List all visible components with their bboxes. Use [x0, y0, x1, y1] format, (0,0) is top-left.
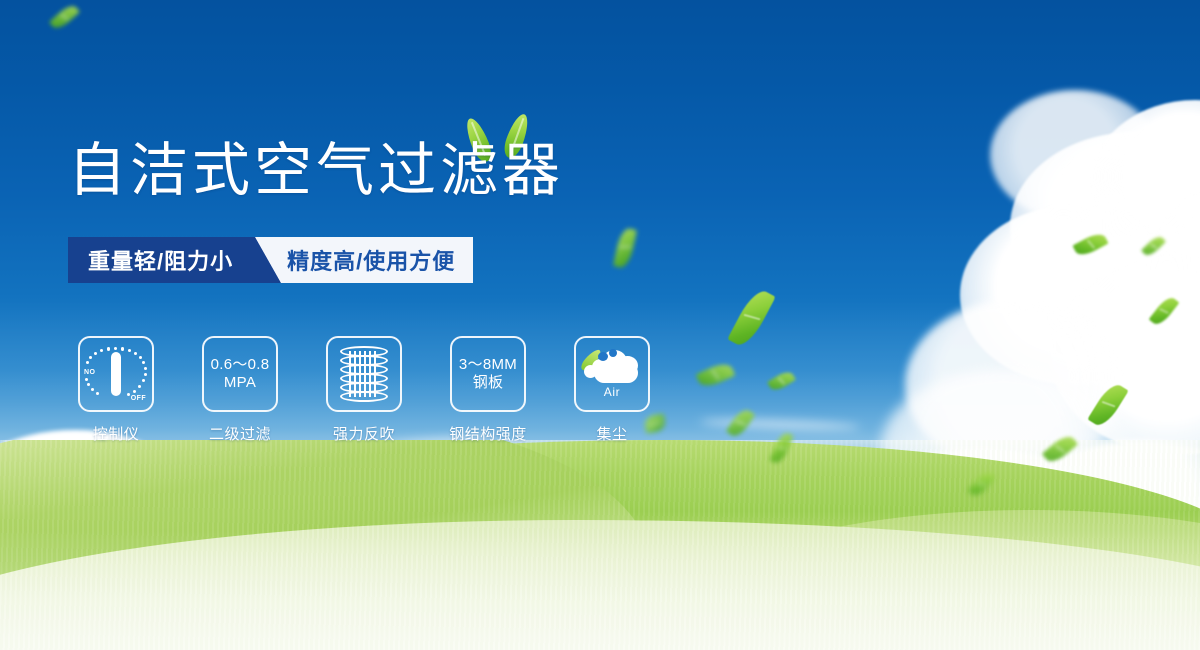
gauge-icon: NO OFF [85, 345, 147, 403]
pressure-value-line2: MPA [224, 374, 256, 392]
subtitle-bar: 重量轻/阻力小 精度高/使用方便 [68, 237, 473, 283]
gauge-off-label: OFF [131, 395, 146, 402]
subtitle-right: 精度高/使用方便 [281, 237, 473, 283]
gauge-needle-icon [111, 352, 121, 396]
feature-icon-box: NO OFF [78, 336, 154, 412]
feature-label: 强力反吹 [333, 423, 395, 444]
gauge-on-label: NO [84, 369, 95, 376]
steel-value-line1: 3～8MM [459, 356, 517, 374]
pressure-value-line1: 0.6～0.8 [211, 356, 270, 374]
feature-item-controller[interactable]: NO OFF 控制仪 [68, 336, 164, 444]
subtitle-left: 重量轻/阻力小 [68, 237, 255, 283]
feature-item-backblow[interactable]: 强力反吹 [316, 336, 412, 444]
feature-icon-box: 3～8MM 钢板 [450, 336, 526, 412]
feature-label: 控制仪 [93, 423, 140, 444]
feature-list: NO OFF 控制仪 0.6～0.8 MPA 二级过滤 [68, 336, 660, 444]
feature-icon-box [326, 336, 402, 412]
feature-icon-box: Air [574, 336, 650, 412]
banner-content: 自洁式空气过滤器 重量轻/阻力小 精度高/使用方便 [0, 0, 1200, 650]
page-title: 自洁式空气过滤器 [68, 142, 564, 200]
filter-stack-icon [337, 345, 391, 403]
subtitle-divider [255, 237, 281, 283]
cloud-air-icon [584, 349, 640, 383]
steel-value-line2: 钢板 [473, 374, 504, 392]
feature-label: 二级过滤 [209, 423, 271, 444]
product-banner: 自洁式空气过滤器 重量轻/阻力小 精度高/使用方便 [0, 0, 1200, 650]
feature-icon-box: 0.6～0.8 MPA [202, 336, 278, 412]
feature-label: 集尘 [596, 423, 627, 444]
air-label: Air [604, 385, 620, 399]
feature-item-steel[interactable]: 3～8MM 钢板 钢结构强度 [440, 336, 536, 444]
feature-item-dust[interactable]: Air 集尘 [564, 336, 660, 444]
feature-label: 钢结构强度 [449, 423, 527, 444]
feature-item-pressure[interactable]: 0.6～0.8 MPA 二级过滤 [192, 336, 288, 444]
